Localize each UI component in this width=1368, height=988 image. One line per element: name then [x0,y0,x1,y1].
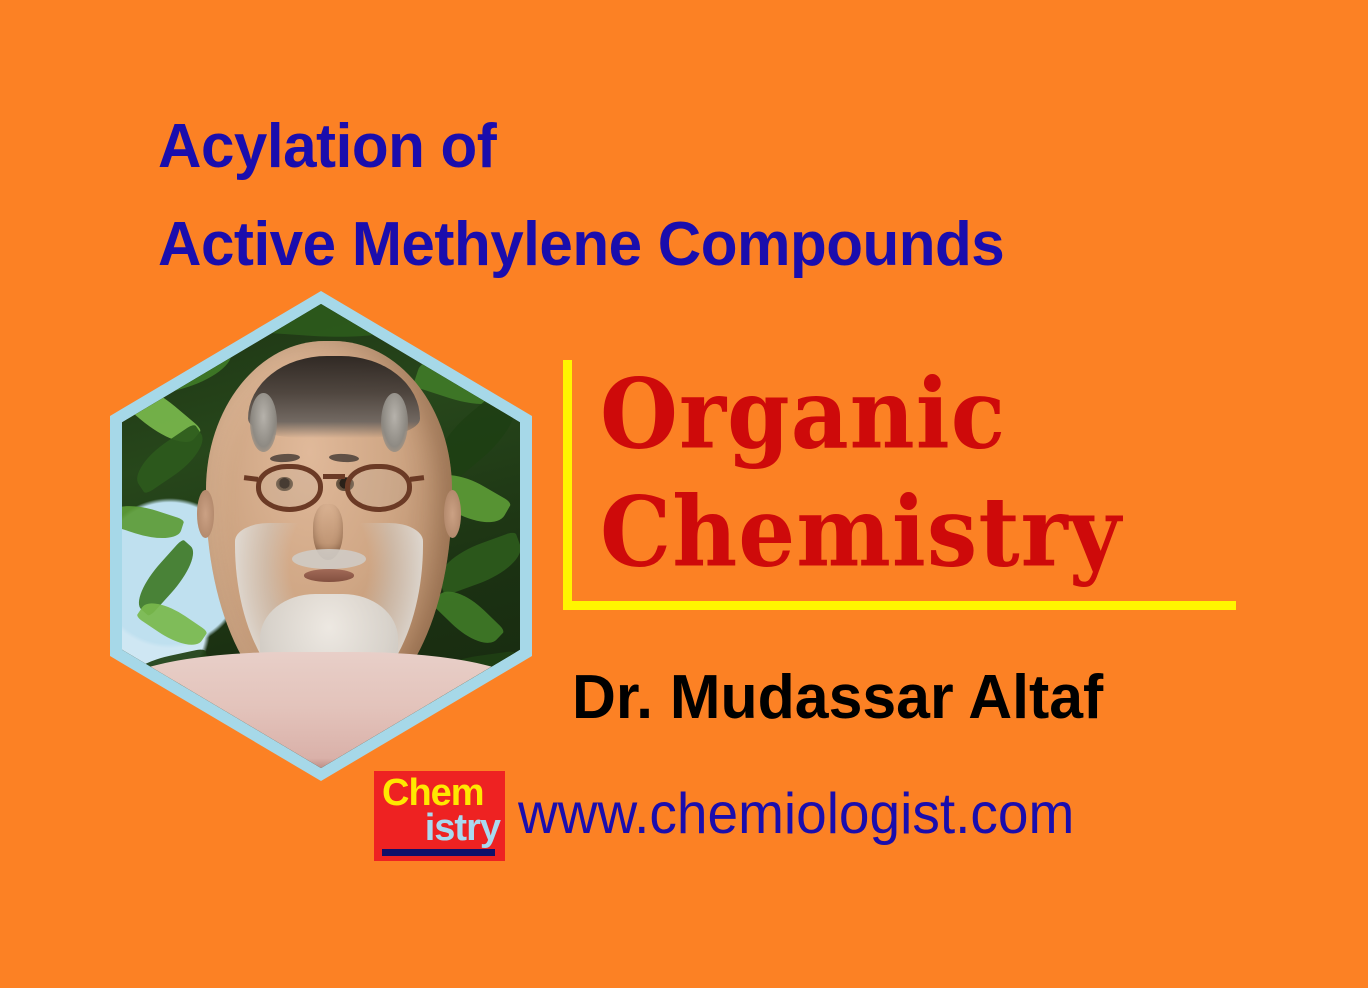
slide-canvas: Acylation of Active Methylene Compounds [0,0,1368,988]
website-url[interactable]: www.chemiologist.com [518,778,1074,847]
subject-line-1: Organic [600,349,1276,481]
lens-left [256,464,323,512]
accent-rule-vertical [563,360,572,610]
collar-right [355,751,467,768]
chemistry-logo[interactable]: Chem istry [374,771,505,861]
subject-heading: Organic Chemistry [600,356,1250,592]
page-title: Acylation of Active Methylene Compounds [158,98,1248,294]
title-line-1: Acylation of [158,98,1215,196]
subject-line-2: Chemistry [600,467,1276,599]
portrait-hexagon [110,291,532,781]
title-line-2: Active Methylene Compounds [158,196,1215,294]
footer: Chem istry www.chemiologist.com [374,768,1204,868]
glasses-bridge [323,474,345,479]
eyebrow-right [329,454,359,464]
logo-text-bottom: istry [425,808,500,848]
accent-rule-horizontal [563,601,1236,610]
ear-right [444,490,461,538]
shirt-shadow [252,758,390,768]
glasses-arm-right [410,475,424,482]
shirt [122,652,520,768]
lens-right [345,464,412,512]
glasses-arm-left [243,475,257,482]
collar-left [175,751,287,768]
logo-underline-bar [382,849,495,856]
mouth [304,569,353,582]
shirt-button [355,759,369,768]
ear-left [197,490,214,538]
author-name: Dr. Mudassar Altaf [572,662,1103,734]
temple-hair-left [250,393,277,452]
temple-hair-right [381,393,408,452]
eyebrow-left [270,454,300,464]
